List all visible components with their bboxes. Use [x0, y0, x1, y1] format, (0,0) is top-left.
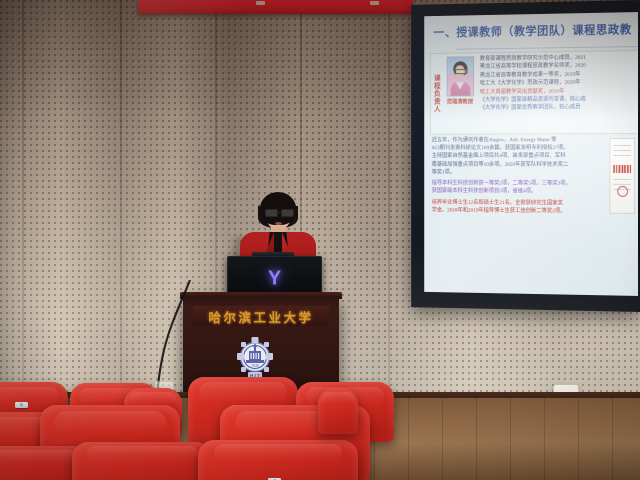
glasses-bridge — [276, 212, 281, 213]
seat[interactable]: 2 — [198, 440, 358, 480]
glasses-lens-left — [265, 209, 278, 217]
seat[interactable] — [318, 388, 358, 434]
svg-text:1920: 1920 — [251, 363, 259, 368]
podium-nameplate: 哈尔滨工业大学 — [193, 306, 329, 326]
laptop-y-logo-icon: Y — [268, 267, 281, 290]
podium-institution-text: 哈尔滨工业大学 — [208, 307, 313, 326]
seat-number: 5 — [15, 402, 28, 408]
lecture-hall-photo: 一、授课教师（教学团队）课程思政教 课程负责人 范瑞清教授 — [0, 0, 640, 480]
presenter-mouth — [275, 222, 282, 225]
seat[interactable] — [72, 442, 212, 480]
presenter-glasses-icon — [265, 209, 292, 215]
hit-university-emblem-icon: 1920 H I T — [235, 336, 275, 380]
glasses-lens-right — [281, 209, 294, 217]
